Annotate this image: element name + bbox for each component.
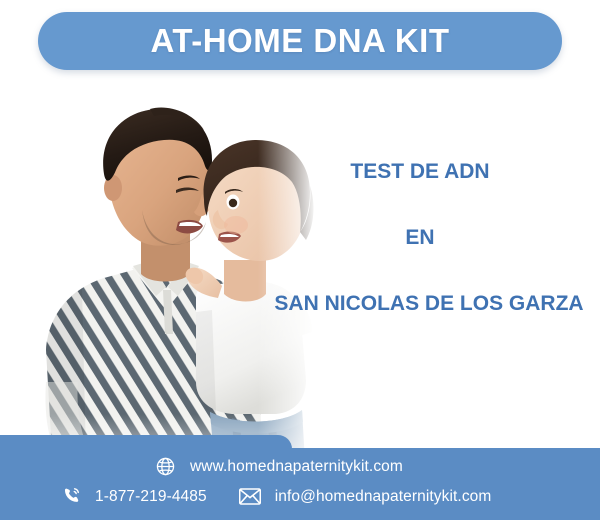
envelope-icon — [239, 488, 261, 505]
footer-website-row: www.homednapaternitykit.com — [155, 456, 403, 477]
website-url[interactable]: www.homednapaternitykit.com — [190, 458, 403, 476]
headline-line-3: SAN NICOLAS DE LOS GARZA — [258, 290, 600, 318]
page-title: AT-HOME DNA KIT — [151, 22, 450, 60]
headline-line-1: TEST DE ADN — [240, 158, 600, 186]
globe-icon — [155, 456, 176, 477]
phone-ringing-icon — [62, 486, 83, 507]
header-banner: AT-HOME DNA KIT — [38, 12, 562, 70]
footer-content: www.homednapaternitykit.com 1-877-219-44… — [0, 435, 600, 520]
phone-number[interactable]: 1-877-219-4485 — [95, 488, 207, 506]
footer-contact-row: 1-877-219-4485 info@homednapaternitykit.… — [62, 486, 491, 507]
email-address[interactable]: info@homednapaternitykit.com — [275, 488, 492, 506]
headline-line-2: EN — [240, 224, 600, 252]
poster-canvas: AT-HOME DNA KIT — [0, 0, 600, 520]
photo-fade-left — [0, 82, 40, 454]
headline-block: TEST DE ADN EN SAN NICOLAS DE LOS GARZA — [240, 158, 600, 318]
footer-bar: www.homednapaternitykit.com 1-877-219-44… — [0, 435, 600, 520]
